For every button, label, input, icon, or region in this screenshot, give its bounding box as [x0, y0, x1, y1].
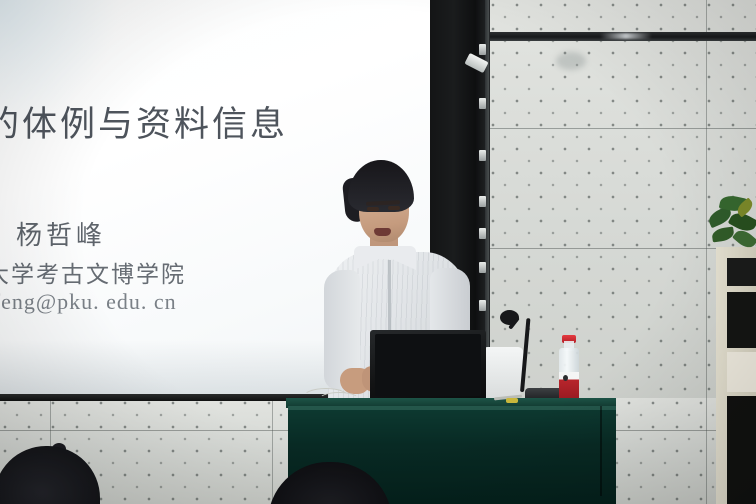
column-clip — [479, 44, 486, 55]
slide-email: efeng@pku. edu. cn — [0, 289, 177, 315]
column-clip — [479, 300, 486, 311]
slide-title-text: 的体例与资料信息 — [0, 96, 288, 147]
potted-plant — [706, 192, 756, 254]
column-clip — [479, 196, 486, 207]
column-clip — [479, 262, 486, 273]
column-clip — [479, 150, 486, 161]
cabinet-panel — [727, 258, 756, 286]
wall-seam-horizontal — [488, 128, 756, 129]
plant-leaf — [711, 227, 735, 243]
cabinet-panel — [727, 396, 756, 504]
speaker-mouth — [374, 228, 391, 236]
water-bottle-label-mark — [563, 375, 568, 381]
column-clip — [479, 228, 486, 239]
table-cable-connector — [506, 398, 518, 403]
laptop-screen — [375, 334, 481, 396]
lecture-photo-scene: 的体例与资料信息 杨哲峰 大学考古文博学院 efeng@pku. edu. cn — [0, 0, 756, 504]
table-drape-fold — [600, 406, 602, 496]
slide-speaker-name: 杨哲峰 — [16, 215, 106, 252]
table-cable — [318, 392, 360, 408]
speaker-eye-right — [388, 206, 400, 210]
wall-seam-vertical — [272, 398, 273, 504]
column-clip — [479, 98, 486, 109]
cabinet-panel-light — [727, 352, 756, 392]
speaker-eye-left — [367, 207, 379, 211]
water-bottle-label — [559, 372, 579, 398]
wall-smudge — [556, 52, 586, 70]
rail-highlight — [600, 33, 652, 39]
slide-affiliation: 大学考古文博学院 — [0, 255, 186, 289]
plant-leaf — [732, 227, 756, 252]
cabinet-panel — [727, 292, 756, 348]
